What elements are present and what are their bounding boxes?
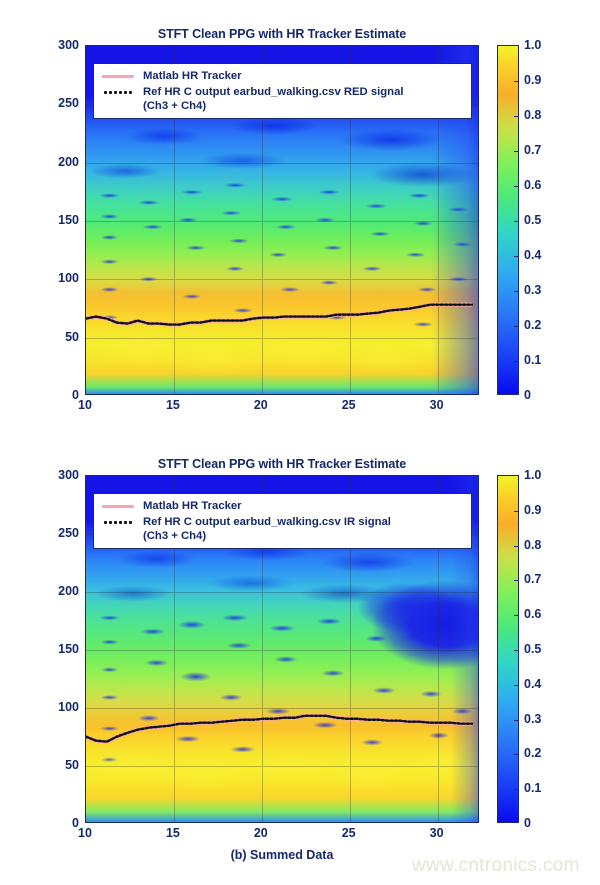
ytick-label: 150 [58,642,79,656]
colorbar-tick-label: 0.5 [524,213,541,227]
dotted-line-icon [100,515,136,529]
figure-caption: (b) Summed Data [231,848,334,862]
panel-red-yaxis: 300 250 200 150 100 50 0 [34,45,79,395]
ytick-label: 200 [58,155,79,169]
colorbar-tick-label: 0.4 [524,248,541,262]
colorbar-tick-label: 0.6 [524,178,541,192]
colorbar-tick-label: 0.8 [524,108,541,122]
ytick-label: 300 [58,468,79,482]
colorbar-tick-label: 0.5 [524,642,541,656]
colorbar-tick-label: 0.9 [524,503,541,517]
solid-line-icon [100,69,136,83]
colorbar-tick-label: 0 [524,388,531,402]
panel-ir-title: STFT Clean PPG with HR Tracker Estimate [85,457,479,471]
legend-label: Ref HR C output earbud_walking.csv IR si… [143,515,391,530]
colorbar-tick-label: 0.1 [524,781,541,795]
xtick-label: 10 [78,398,92,412]
panel-ir-yaxis: 300 250 200 150 100 50 0 [34,475,79,823]
colorbar-tick-label: 0.6 [524,607,541,621]
watermark: www.cntronics.com [412,855,580,877]
panel-red-axes: Matlab HR Tracker Ref HR C output earbud… [85,45,479,395]
legend-label: Matlab HR Tracker [143,69,242,84]
panel-ir-colorbar [497,475,519,823]
colorbar-tick-label: 0.7 [524,572,541,586]
panel-red-legend: Matlab HR Tracker Ref HR C output earbud… [93,63,472,119]
colorbar-gradient [498,46,518,394]
colorbar-tick-label: 0 [524,816,531,830]
xtick-label: 15 [166,826,180,840]
panel-red-xaxis: 10 15 20 25 30 [85,398,479,418]
colorbar-tick-label: 0.8 [524,538,541,552]
xtick-label: 20 [254,398,268,412]
legend-label: Matlab HR Tracker [143,499,242,514]
ytick-label: 50 [65,330,79,344]
colorbar-tick-label: 1.0 [524,468,541,482]
colorbar-tick-label: 0.9 [524,73,541,87]
ytick-label: 200 [58,584,79,598]
ytick-label: 100 [58,271,79,285]
xtick-label: 25 [342,826,356,840]
colorbar-tick-label: 0.7 [524,143,541,157]
colorbar-tick-label: 0.2 [524,318,541,332]
ytick-label: 250 [58,96,79,110]
panel-red-colorbar-ticks: 1.0 0.9 0.8 0.7 0.6 0.5 0.4 0.3 0.2 0.1 … [524,45,564,395]
ytick-label: 250 [58,526,79,540]
panel-ir: STFT Clean PPG with HR Tracker Estimate … [0,430,600,885]
legend-label-continuation: (Ch3 + Ch4) [143,99,404,114]
colorbar-tick-label: 0.3 [524,283,541,297]
colorbar-gradient [498,476,518,822]
panel-ir-axes: Matlab HR Tracker Ref HR C output earbud… [85,475,479,823]
panel-red-title: STFT Clean PPG with HR Tracker Estimate [85,27,479,41]
panel-ir-colorbar-ticks: 1.0 0.9 0.8 0.7 0.6 0.5 0.4 0.3 0.2 0.1 … [524,475,564,823]
xtick-label: 10 [78,826,92,840]
panel-ir-xaxis: 10 15 20 25 30 [85,826,479,846]
solid-line-icon [100,499,136,513]
xtick-label: 25 [342,398,356,412]
panel-red: STFT Clean PPG with HR Tracker Estimate … [0,0,600,440]
legend-entry-matlab-hr-tracker: Matlab HR Tracker [100,69,463,84]
xtick-label: 20 [254,826,268,840]
colorbar-tick-label: 0.4 [524,677,541,691]
legend-entry-matlab-hr-tracker: Matlab HR Tracker [100,499,463,514]
xtick-label: 30 [430,398,444,412]
xtick-label: 30 [430,826,444,840]
xtick-label: 15 [166,398,180,412]
panel-ir-legend: Matlab HR Tracker Ref HR C output earbud… [93,493,472,549]
panel-red-colorbar [497,45,519,395]
colorbar-tick-label: 1.0 [524,38,541,52]
ytick-label: 50 [65,758,79,772]
legend-label-continuation: (Ch3 + Ch4) [143,529,391,544]
colorbar-tick-label: 0.3 [524,712,541,726]
ytick-label: 150 [58,213,79,227]
legend-entry-ref-hr-c-output: Ref HR C output earbud_walking.csv RED s… [100,85,463,114]
figure-root: STFT Clean PPG with HR Tracker Estimate … [0,0,600,885]
legend-label: Ref HR C output earbud_walking.csv RED s… [143,85,404,100]
dotted-line-icon [100,85,136,99]
colorbar-tick-label: 0.2 [524,746,541,760]
ytick-label: 300 [58,38,79,52]
colorbar-tick-label: 0.1 [524,353,541,367]
ytick-label: 100 [58,700,79,714]
legend-entry-ref-hr-c-output: Ref HR C output earbud_walking.csv IR si… [100,515,463,544]
